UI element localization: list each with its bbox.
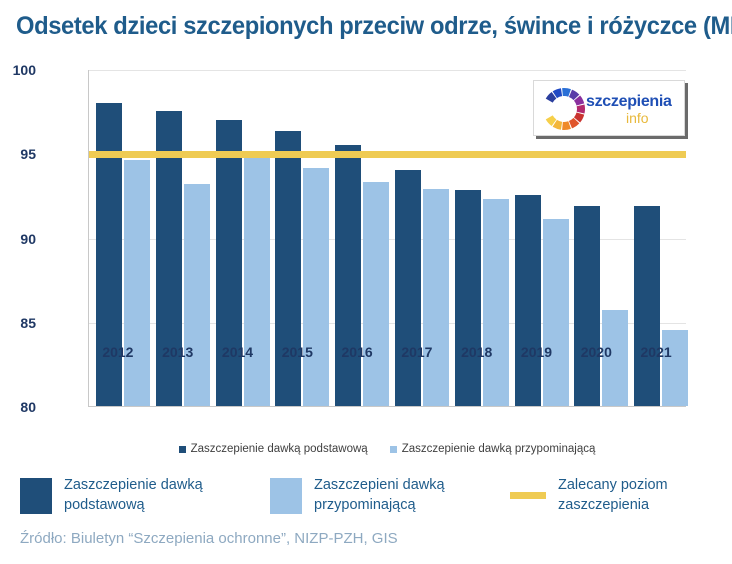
legend-swatch-booster [270,478,302,514]
ring-icon [540,84,588,134]
bar-primary [96,103,122,406]
inner-legend-item: Zaszczepienie dawką przypominającą [390,443,596,455]
legend-item-booster: Zaszczepieni dawką przypominającą [270,476,510,515]
bar-booster [543,219,569,406]
y-tick-label: 100 [0,62,36,78]
bar-primary [574,206,600,407]
y-tick-label: 90 [0,231,36,247]
inner-legend-swatch [390,446,397,453]
logo-wordmark: szczepienia [586,93,672,111]
bar-booster [423,189,449,406]
legend-swatch-primary [20,478,52,514]
bar-primary [335,145,361,406]
bar-primary [216,120,242,406]
ring-segment [577,105,585,114]
bar-booster [483,199,509,406]
bar-booster [244,157,270,406]
szczepienia-info-logo: szczepienia info [533,80,685,136]
bar-primary [395,170,421,406]
bar-booster [184,184,210,406]
ring-segment [562,88,571,97]
bar-booster [662,330,688,406]
legend-label-threshold: Zalecany poziom zaszczepienia [558,476,720,515]
legend-label-primary: Zaszczepienie dawką podstawową [64,476,239,515]
source-note: Źródło: Biuletyn “Szczepienia ochronne”,… [20,530,398,547]
inner-legend-item: Zaszczepienie dawką podstawową [179,443,368,455]
bar-primary [275,131,301,406]
inner-legend-label: Zaszczepienie dawką podstawową [191,443,368,455]
y-tick-label: 85 [0,315,36,331]
inner-legend: Zaszczepienie dawką podstawowąZaszczepie… [88,443,686,455]
inner-legend-swatch [179,446,186,453]
bar-booster [303,168,329,406]
legend-item-threshold: Zalecany poziom zaszczepienia [510,476,720,515]
bar-booster [363,182,389,406]
bar-primary [634,206,660,407]
bottom-legend: Zaszczepienie dawką podstawową Zaszczepi… [20,476,720,515]
y-tick-label: 80 [0,399,36,415]
legend-item-primary: Zaszczepienie dawką podstawową [20,476,270,515]
page-title: Odsetek dzieci szczepionych przeciw odrz… [16,12,687,41]
legend-swatch-threshold [510,492,546,499]
threshold-line [89,151,686,158]
bar-primary [455,190,481,406]
y-tick-label: 95 [0,146,36,162]
bar-primary [515,195,541,406]
legend-label-booster: Zaszczepieni dawką przypominającą [314,476,489,515]
inner-legend-label: Zaszczepienie dawką przypominającą [402,443,596,455]
logo-subword: info [626,110,649,126]
ring-segment [562,121,571,130]
bar-booster [124,160,150,406]
x-tick-label: 2021 [621,344,691,360]
